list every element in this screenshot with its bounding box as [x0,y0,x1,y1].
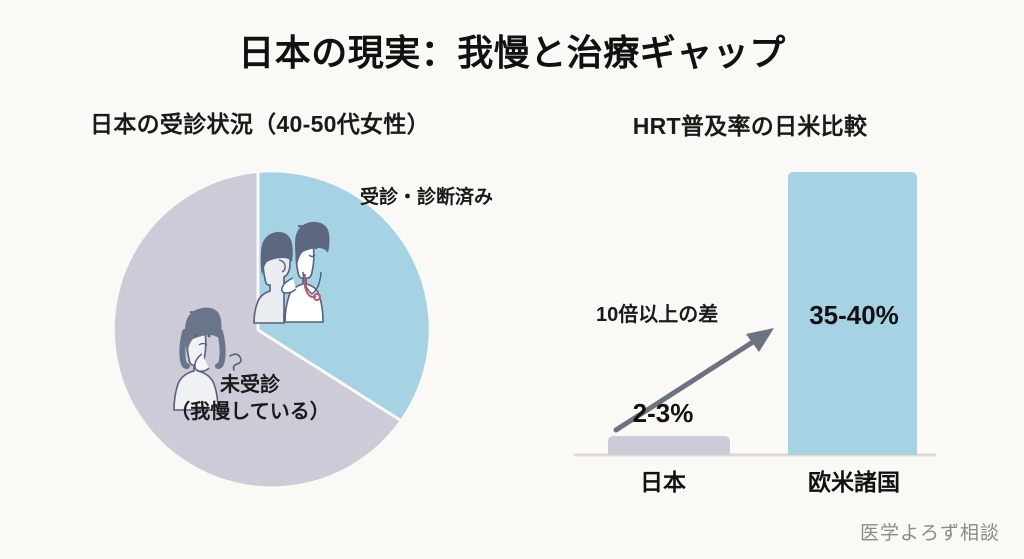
slide-canvas: 日本の現実：我慢と治療ギャップ 日本の受診状況（40-50代女性） [0,0,1024,559]
bar-value-japan: 2-3% [598,398,728,429]
pie-chart-subtitle: 日本の受診状況（40-50代女性） [40,105,480,139]
bar-japan[interactable] [608,436,730,455]
bar-category-western-countries: 欧米諸国 [784,463,924,497]
pie-chart-graphic [90,160,440,500]
bar-category-japan: 日本 [598,463,728,497]
bar-chart-subtitle: HRT普及率の日米比較 [560,107,940,141]
pie-label-diagnosed: 受診・診断済み [360,182,493,209]
pie-chart-panel: 受診・診断済み 未受診 （我慢している） [90,160,440,500]
pie-label-undiagnosed-line1: 未受診 [120,372,380,399]
bar-value-western-countries: 35-40% [788,300,920,331]
watermark: 医学よろず相談 [860,518,1000,545]
pie-label-undiagnosed: 未受診 （我慢している） [120,372,380,426]
pie-label-undiagnosed-line2: （我慢している） [120,399,380,426]
bar-chart-panel: 10倍以上の差 2-3% 35-40% 日本 欧米諸国 [560,160,960,500]
page-title: 日本の現実：我慢と治療ギャップ [0,24,1024,76]
bar-chart-annotation: 10倍以上の差 [596,298,718,327]
